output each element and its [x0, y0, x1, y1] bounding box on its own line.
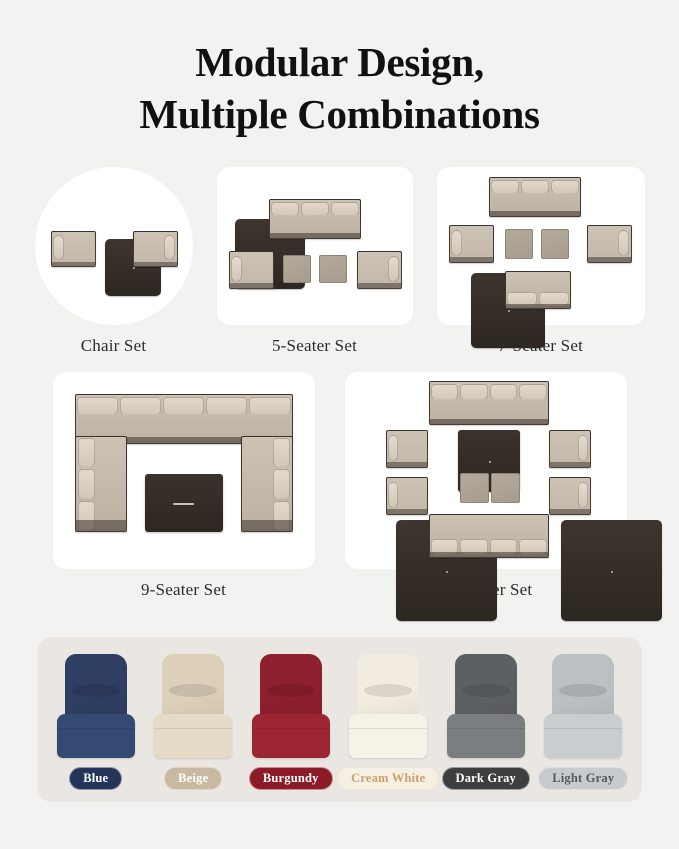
cushion-seat — [57, 714, 135, 758]
color-swatch-light-gray[interactable]: Light Gray — [537, 654, 629, 791]
color-label: Dark Gray — [442, 767, 530, 791]
ottoman-icon — [460, 473, 489, 503]
configuration-card-7-seater[interactable]: 7-Seater Set — [437, 167, 645, 356]
page-title: Modular Design, Multiple Combinations — [0, 0, 679, 141]
cushion-back — [260, 654, 322, 720]
cushion-seat — [154, 714, 232, 758]
color-label: Blue — [69, 767, 122, 791]
twelve-seater-diagram — [345, 372, 627, 569]
page-title-line-2: Multiple Combinations — [0, 88, 679, 140]
armchair-icon — [386, 430, 428, 468]
ottoman-icon — [319, 255, 347, 283]
armchair-icon — [386, 477, 428, 515]
color-swatch-dark-gray[interactable]: Dark Gray — [440, 654, 532, 791]
cushion-illustration — [57, 654, 135, 758]
color-swatch-beige[interactable]: Beige — [147, 654, 239, 791]
nine-seater-diagram — [53, 372, 315, 569]
color-label: Light Gray — [538, 767, 628, 791]
armchair-icon — [549, 430, 591, 468]
glass-coffee-table-icon — [145, 474, 223, 532]
armchair-icon — [449, 225, 494, 263]
cushion-back — [65, 654, 127, 720]
cushion-seat — [252, 714, 330, 758]
page-title-line-1: Modular Design, — [0, 36, 679, 88]
armchair-icon — [549, 477, 591, 515]
five-seater-diagram — [217, 167, 413, 325]
sofa-four-seat-icon — [429, 514, 549, 558]
sofa-four-seat-icon — [429, 381, 549, 425]
cushion-seat — [349, 714, 427, 758]
cushion-illustration — [544, 654, 622, 758]
configuration-card-12-seater[interactable]: 12-Seater Set — [345, 372, 627, 600]
sectional-left-row-icon — [75, 436, 127, 532]
cushion-illustration — [349, 654, 427, 758]
cushion-seat — [544, 714, 622, 758]
color-swatch-row: Blue Beige Burgundy Cream White — [37, 637, 642, 802]
color-swatch-cream-white[interactable]: Cream White — [342, 654, 434, 791]
cushion-back — [162, 654, 224, 720]
configuration-label: Chair Set — [81, 336, 147, 356]
side-table-icon — [561, 520, 663, 622]
seven-seater-diagram — [437, 167, 645, 325]
cushion-illustration — [252, 654, 330, 758]
color-label: Burgundy — [249, 767, 333, 791]
armchair-icon — [229, 251, 274, 289]
color-label: Cream White — [337, 767, 439, 791]
sofa-two-seat-icon — [505, 271, 571, 309]
color-label: Beige — [164, 767, 222, 791]
cushion-seat — [447, 714, 525, 758]
armchair-icon — [587, 225, 632, 263]
configuration-card-9-seater[interactable]: 9-Seater Set — [53, 372, 315, 600]
cushion-back — [357, 654, 419, 720]
configuration-label: 5-Seater Set — [272, 336, 357, 356]
configuration-label: 9-Seater Set — [141, 580, 226, 600]
color-swatch-blue[interactable]: Blue — [50, 654, 142, 791]
configuration-row-top: Chair Set 5-Seater Set — [0, 167, 679, 356]
armchair-icon — [133, 231, 178, 267]
ottoman-icon — [541, 229, 569, 259]
sectional-right-row-icon — [241, 436, 293, 532]
armchair-icon — [357, 251, 402, 289]
cushion-illustration — [154, 654, 232, 758]
color-options-panel: Blue Beige Burgundy Cream White — [37, 637, 642, 802]
configuration-card-5-seater[interactable]: 5-Seater Set — [217, 167, 413, 356]
cushion-back — [552, 654, 614, 720]
ottoman-icon — [505, 229, 533, 259]
sofa-three-seat-icon — [489, 177, 581, 217]
armchair-icon — [51, 231, 96, 267]
configuration-card-chair-set[interactable]: Chair Set — [35, 167, 193, 356]
chair-set-diagram — [35, 167, 193, 325]
cushion-illustration — [447, 654, 525, 758]
configuration-row-bottom: 9-Seater Set — [0, 372, 679, 600]
ottoman-icon — [491, 473, 520, 503]
sofa-three-seat-icon — [269, 199, 361, 239]
color-swatch-burgundy[interactable]: Burgundy — [245, 654, 337, 791]
ottoman-icon — [283, 255, 311, 283]
cushion-back — [455, 654, 517, 720]
